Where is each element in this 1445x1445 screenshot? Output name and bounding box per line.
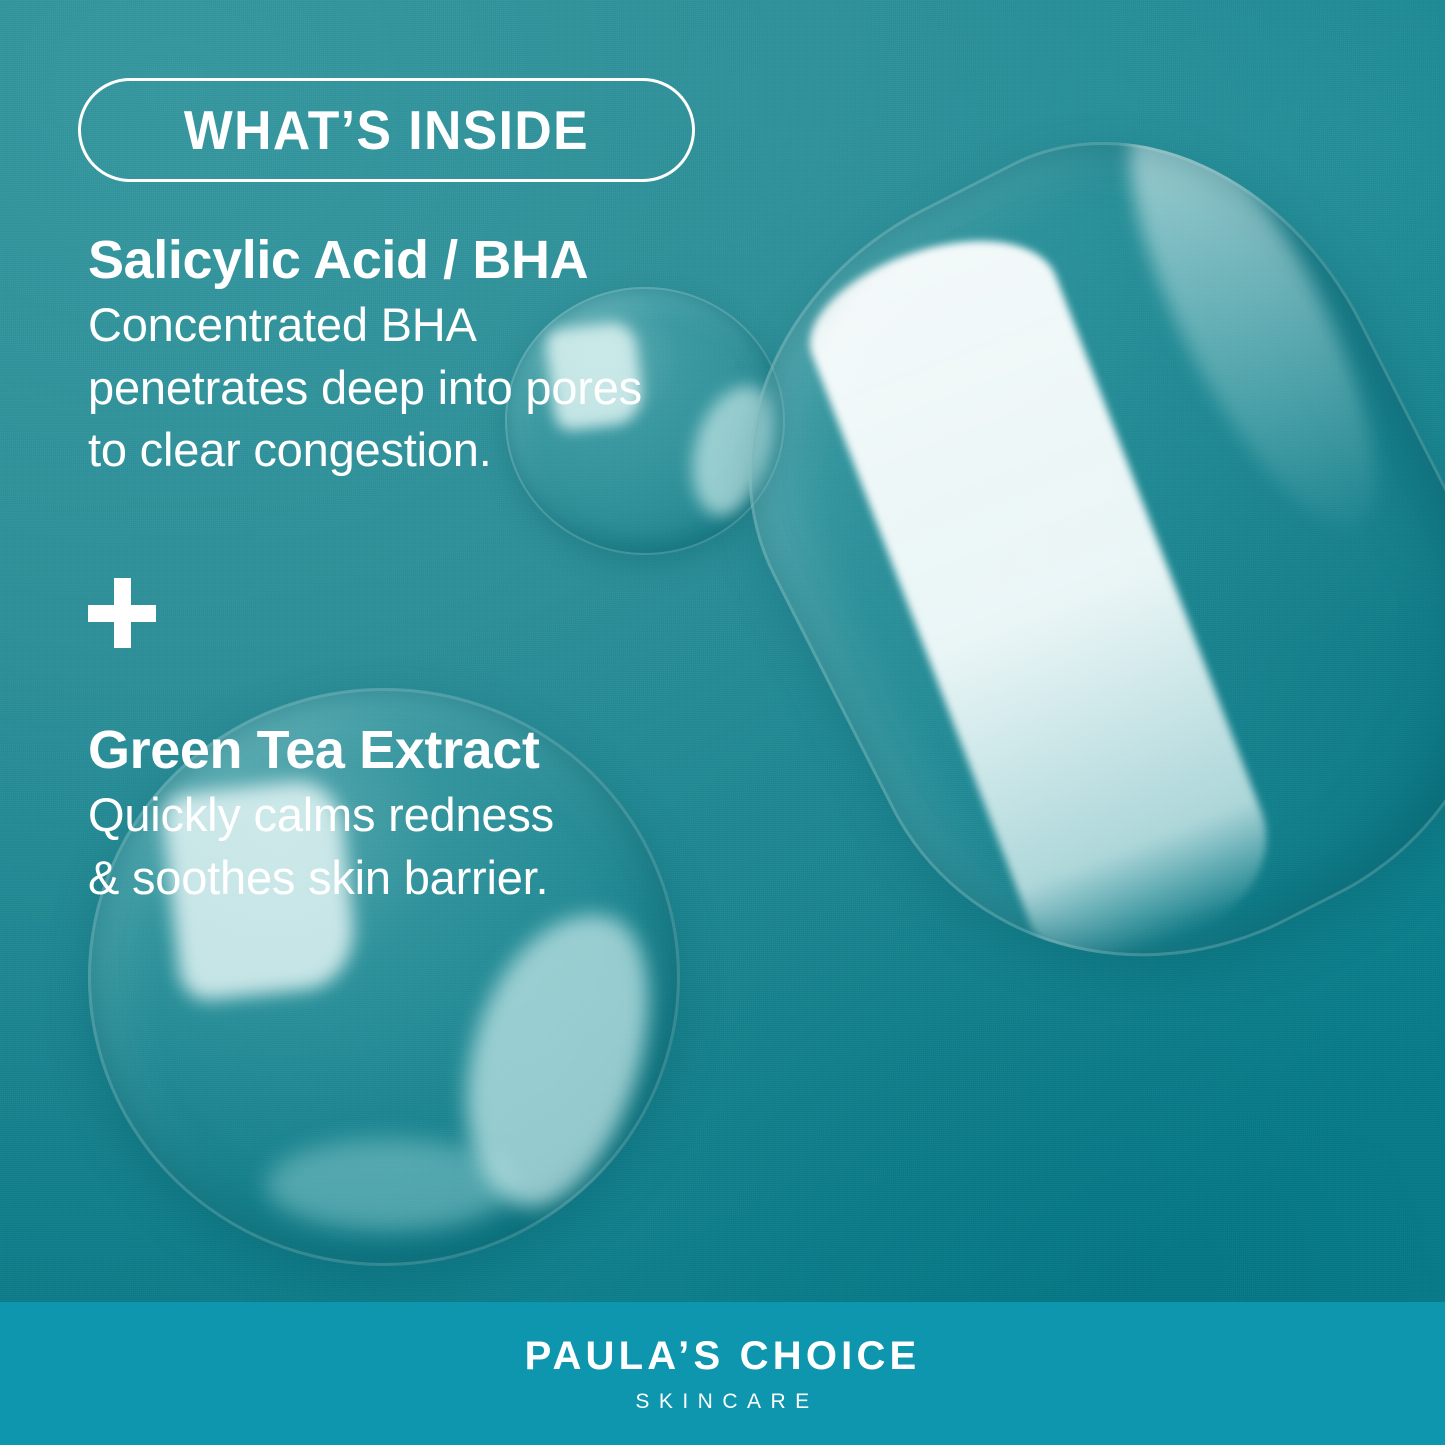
plus-icon-vertical-bar — [114, 578, 131, 648]
ingredient-description-line: to clear congestion. — [88, 419, 848, 482]
ingredient-block-salicylic-acid: Salicylic Acid / BHA Concentrated BHA pe… — [88, 232, 848, 482]
product-ingredient-poster: WHAT’S INSIDE Salicylic Acid / BHA Conce… — [0, 0, 1445, 1445]
ingredient-description-line: Quickly calms redness — [88, 784, 848, 847]
ingredient-description-line: penetrates deep into pores — [88, 357, 848, 420]
brand-tagline: SKINCARE — [626, 1391, 818, 1412]
ingredient-title: Salicylic Acid / BHA — [88, 232, 848, 288]
whats-inside-badge: WHAT’S INSIDE — [78, 78, 695, 182]
brand-footer: PAULA’S CHOICE SKINCARE — [0, 1302, 1445, 1445]
ingredient-block-green-tea-extract: Green Tea Extract Quickly calms redness … — [88, 722, 848, 909]
whats-inside-badge-label: WHAT’S INSIDE — [184, 103, 589, 158]
plus-icon — [88, 578, 156, 648]
ingredient-description: Quickly calms redness & soothes skin bar… — [88, 784, 848, 909]
brand-name: PAULA’S CHOICE — [525, 1336, 921, 1376]
ingredient-description-line: Concentrated BHA — [88, 294, 848, 357]
poster-content: WHAT’S INSIDE Salicylic Acid / BHA Conce… — [0, 0, 1445, 1445]
ingredient-title: Green Tea Extract — [88, 722, 848, 778]
ingredient-description: Concentrated BHA penetrates deep into po… — [88, 294, 848, 482]
ingredient-description-line: & soothes skin barrier. — [88, 847, 848, 910]
